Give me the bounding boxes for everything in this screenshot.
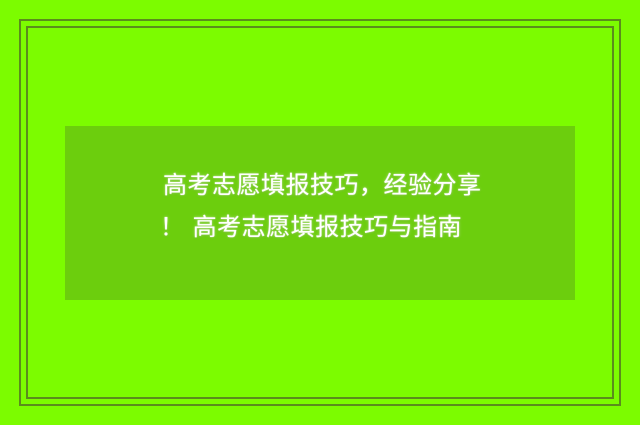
headline-text-block: 高考志愿填报技巧，经验分享 ！ 高考志愿填报技巧与指南 [163, 164, 493, 248]
poster-canvas: 高考志愿填报技巧，经验分享 ！ 高考志愿填报技巧与指南 [0, 0, 640, 425]
headline-panel: 高考志愿填报技巧，经验分享 ！ 高考志愿填报技巧与指南 [65, 126, 575, 300]
headline-line-2: ！ 高考志愿填报技巧与指南 [163, 206, 493, 248]
headline-line-1: 高考志愿填报技巧，经验分享 [163, 164, 493, 206]
